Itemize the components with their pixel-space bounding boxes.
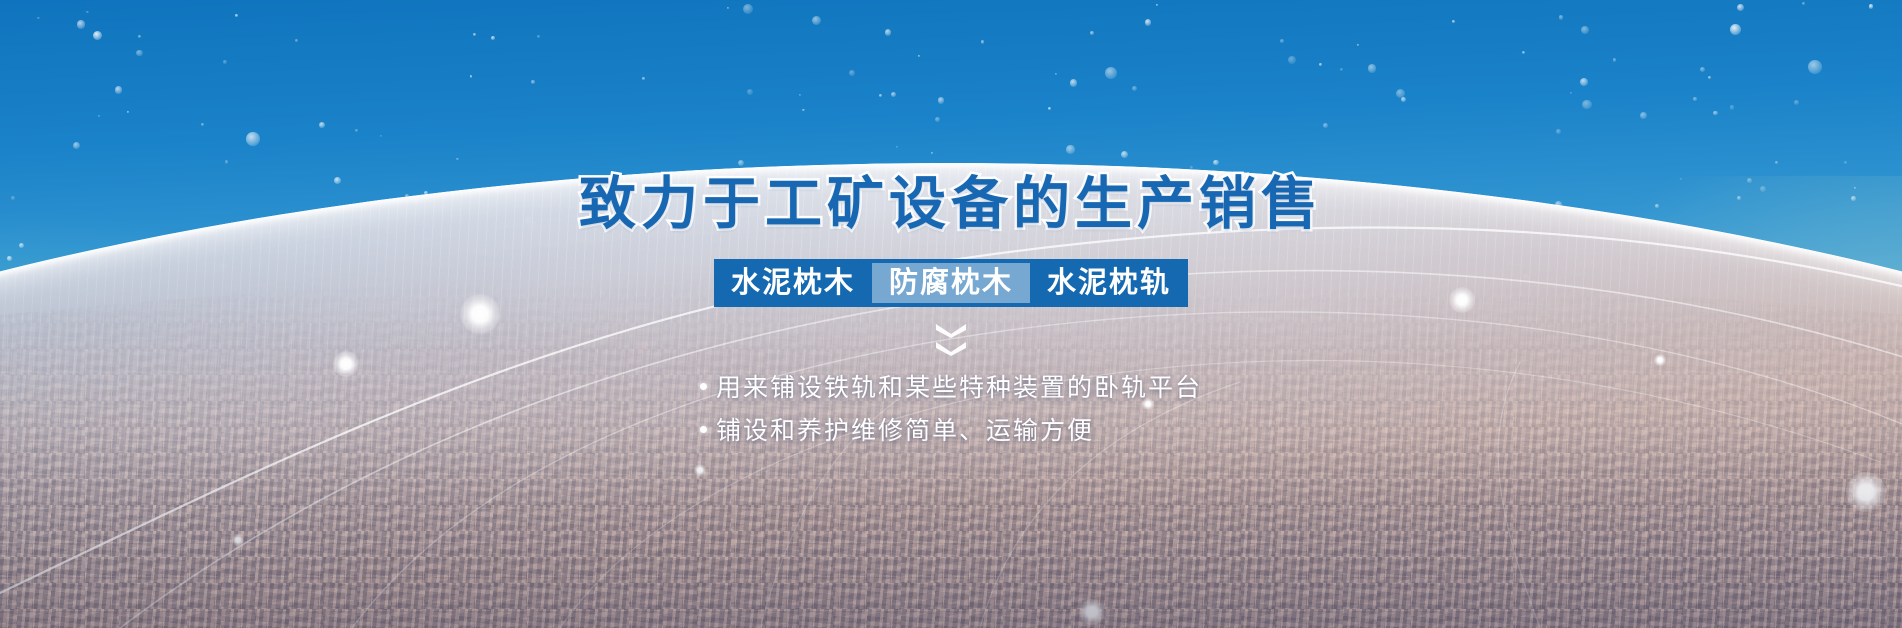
page-title: 致力于工矿设备的生产销售 xyxy=(579,176,1323,233)
list-item: 铺设和养护维修简单、运输方便 xyxy=(700,411,1094,447)
glow-node xyxy=(1079,599,1105,625)
glow-node xyxy=(232,534,244,546)
product-badge-row: 水泥枕木 防腐枕木 水泥枕轨 xyxy=(714,259,1188,307)
feature-text: 铺设和养护维修简单、运输方便 xyxy=(716,411,1094,447)
badge-cement-sleeper[interactable]: 水泥枕木 xyxy=(714,259,872,307)
hero-banner: 致力于工矿设备的生产销售 水泥枕木 防腐枕木 水泥枕轨 用来铺设铁轨和某些特种装… xyxy=(0,0,1902,628)
badge-anticorrosion-sleeper[interactable]: 防腐枕木 xyxy=(872,263,1030,303)
feature-text: 用来铺设铁轨和某些特种装置的卧轨平台 xyxy=(716,368,1202,404)
feature-list: 用来铺设铁轨和某些特种装置的卧轨平台 铺设和养护维修简单、运输方便 xyxy=(700,368,1202,447)
chevron-down-icon xyxy=(934,323,968,338)
list-item: 用来铺设铁轨和某些特种装置的卧轨平台 xyxy=(700,368,1202,404)
badge-cement-rail[interactable]: 水泥枕轨 xyxy=(1030,259,1188,307)
glow-node xyxy=(694,464,706,476)
banner-content: 致力于工矿设备的生产销售 水泥枕木 防腐枕木 水泥枕轨 用来铺设铁轨和某些特种装… xyxy=(0,0,1902,447)
glow-node xyxy=(1846,472,1886,512)
chevron-double-down-icon xyxy=(934,323,968,356)
bullet-dot-icon xyxy=(700,383,707,390)
bullet-dot-icon xyxy=(700,426,707,433)
chevron-down-icon xyxy=(934,341,968,356)
